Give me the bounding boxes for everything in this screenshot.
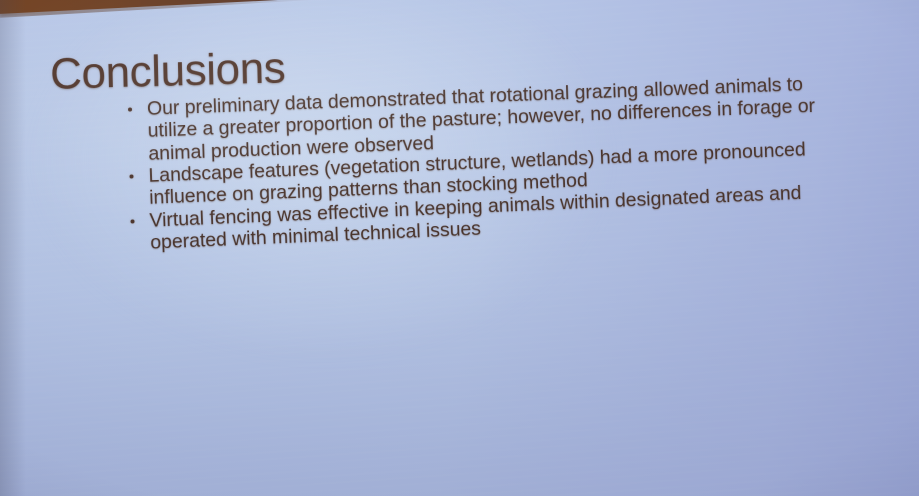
bullet-marker-icon — [129, 174, 134, 179]
bullet-marker-icon — [130, 219, 135, 224]
projected-slide-photo: Conclusions Our preliminary data demonst… — [0, 0, 919, 496]
slide-title: Conclusions — [50, 46, 286, 97]
bullet-marker-icon — [128, 107, 133, 112]
slide-bullet-list: Our preliminary data demonstrated that r… — [125, 79, 828, 255]
slide-content: Conclusions Our preliminary data demonst… — [0, 0, 919, 496]
